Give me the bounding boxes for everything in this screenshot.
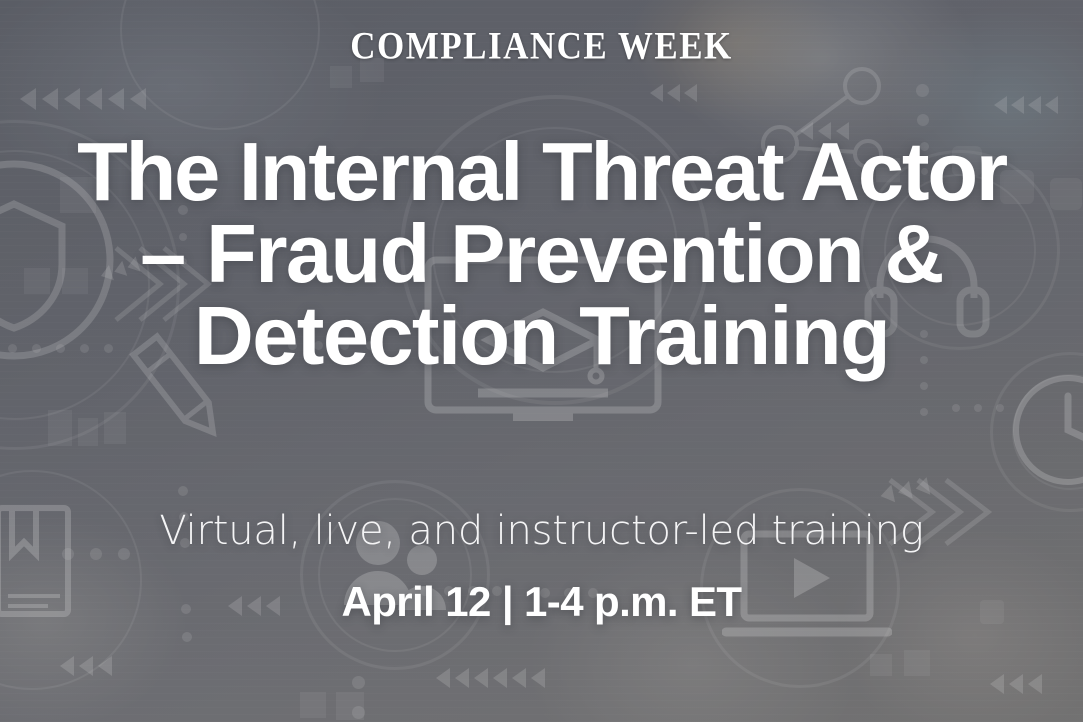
compliance-week-logo: COMPLIANCE WEEK bbox=[350, 26, 733, 65]
page-title: The Internal Threat Actor – Fraud Preven… bbox=[27, 131, 1057, 377]
headline-line-1: The Internal Threat Actor bbox=[27, 131, 1057, 213]
promo-banner: COMPLIANCE WEEK The Internal Threat Acto… bbox=[0, 0, 1083, 722]
headline-line-3: Detection Training bbox=[27, 295, 1057, 377]
headline-line-2: – Fraud Prevention & bbox=[27, 213, 1057, 295]
event-dateline: April 12 | 1-4 p.m. ET bbox=[342, 579, 742, 625]
subtitle: Virtual, live, and instructor-led traini… bbox=[159, 509, 923, 553]
banner-content: COMPLIANCE WEEK The Internal Threat Acto… bbox=[0, 0, 1083, 722]
